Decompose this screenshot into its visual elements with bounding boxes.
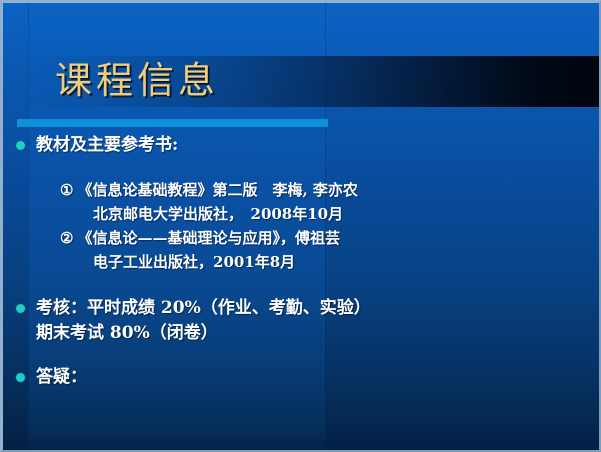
reference-list: ①《信息论基础教程》第二版 李梅, 李亦农 北京邮电大学出版社， 2008年10… xyxy=(3,178,601,274)
reference-title: 《信息论基础教程》第二版 李梅, 李亦农 xyxy=(77,181,357,199)
reference-entry: ②《信息论——基础理论与应用》，傅祖芸 电子工业出版社，2001年8月 xyxy=(3,226,601,274)
reference-title: 《信息论——基础理论与应用》，傅祖芸 xyxy=(77,229,340,247)
reference-publisher: 北京邮电大学出版社， 2008年10月 xyxy=(93,202,601,226)
bullet-dot-icon xyxy=(16,141,25,150)
slide-title: 课程信息 xyxy=(55,57,219,105)
presentation-slide: 课程信息 教材及主要参考书: ①《信息论基础教程》第二版 李梅, 李亦农 北京邮… xyxy=(0,0,601,452)
bullet-item-qa: 答疑： xyxy=(3,365,601,390)
spacer xyxy=(3,346,601,365)
bullet-item-assessment: 考核：平时成绩 20%（作业、考勤、实验） 期末考试 80%（闭卷） xyxy=(3,296,601,346)
bullet-label-textbooks: 教材及主要参考书: xyxy=(36,133,178,158)
spacer xyxy=(3,274,601,296)
bullet-dot-icon xyxy=(16,304,25,313)
assessment-line-1: 考核：平时成绩 20%（作业、考勤、实验） xyxy=(36,296,371,321)
assessment-line-2: 期末考试 80%（闭卷） xyxy=(36,321,371,346)
reference-number: ① xyxy=(60,178,73,202)
bullet-label-assessment: 考核：平时成绩 20%（作业、考勤、实验） 期末考试 80%（闭卷） xyxy=(36,296,371,346)
bullet-dot-icon xyxy=(16,373,25,382)
slide-body: 教材及主要参考书: ①《信息论基础教程》第二版 李梅, 李亦农 北京邮电大学出版… xyxy=(3,133,601,390)
reference-entry: ①《信息论基础教程》第二版 李梅, 李亦农 北京邮电大学出版社， 2008年10… xyxy=(3,178,601,226)
title-accent-rule xyxy=(17,119,328,127)
bullet-label-qa: 答疑： xyxy=(36,365,87,390)
reference-number: ② xyxy=(60,226,73,250)
bullet-item-textbooks: 教材及主要参考书: xyxy=(3,133,601,158)
reference-publisher: 电子工业出版社，2001年8月 xyxy=(93,250,601,274)
